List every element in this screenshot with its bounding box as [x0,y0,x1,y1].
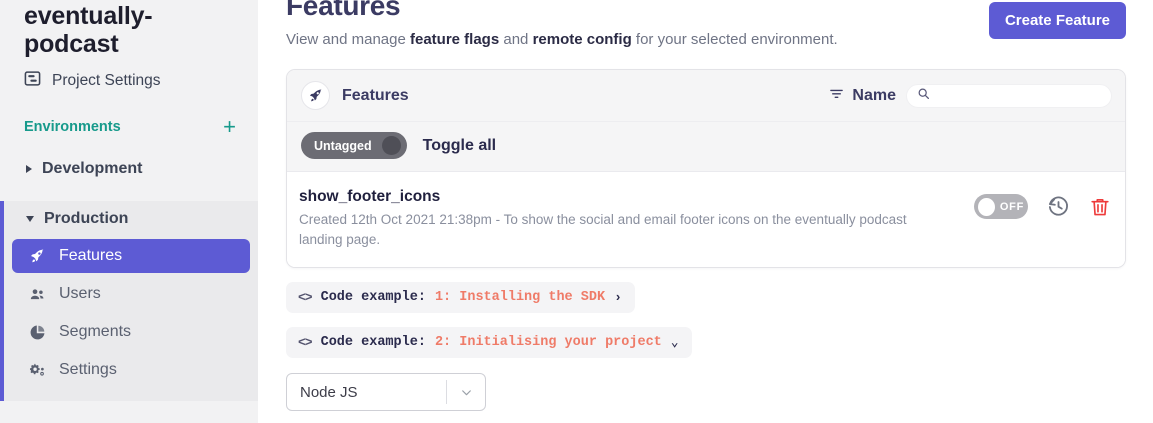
environment-name: Production [44,210,128,228]
gears-icon [28,362,46,379]
app-root: eventually-podcast Project Settings Envi… [0,0,1153,423]
code-example-2[interactable]: <> Code example: 2: Initialising your pr… [286,327,692,358]
feature-delete-button[interactable] [1089,196,1111,218]
subtitle-text-3: for your selected environment. [632,31,838,48]
features-card-title: Features [342,87,409,105]
untagged-tag-toggle[interactable]: Untagged [301,132,407,159]
users-icon [28,286,46,303]
language-select-value: Node JS [300,384,358,401]
sidebar-item-segments[interactable]: Segments [12,315,250,349]
sidebar-item-label: Users [59,285,101,303]
sidebar-item-settings[interactable]: Settings [12,353,250,387]
subtitle-bold-2: remote config [533,31,632,48]
feature-history-button[interactable] [1047,195,1070,218]
search-input[interactable] [936,88,1101,103]
main-content: Features View and manage feature flags a… [258,0,1153,423]
subtitle-text-1: View and manage [286,31,410,48]
features-card-header-right: Name [829,84,1112,108]
pie-chart-icon [28,324,46,341]
code-examples: <> Code example: 1: Installing the SDK ›… [286,268,1126,358]
code-example-1[interactable]: <> Code example: 1: Installing the SDK › [286,282,635,313]
language-select-arrow-group [446,380,485,404]
chevron-down-icon: ⌄ [671,335,679,350]
sidebar-item-users[interactable]: Users [12,277,250,311]
toggle-knob [978,198,995,216]
chevron-right-icon: › [614,290,622,305]
features-card-header: Features Name [287,70,1125,122]
toggle-state-label: OFF [1000,201,1024,213]
sidebar-item-project-settings[interactable]: Project Settings [24,70,258,92]
code-brackets-icon: <> [298,290,312,305]
language-select[interactable]: Node JS [286,373,486,411]
sidebar-item-label: Features [59,247,122,265]
sort-icon [829,86,844,106]
feature-info: show_footer_icons Created 12th Oct 2021 … [299,188,939,249]
environment-development[interactable]: Development [0,151,258,187]
sidebar-top: eventually-podcast Project Settings [0,0,258,92]
chevron-down-icon [26,216,34,222]
features-card-header-left: Features [301,81,409,110]
code-example-title: 1: Installing the SDK [435,290,605,305]
rocket-icon [301,81,330,110]
subtitle-bold-1: feature flags [410,31,499,48]
code-example-2-wrap: <> Code example: 2: Initialising your pr… [286,313,1126,358]
sidebar-item-features[interactable]: Features [12,239,250,273]
environment-development-row[interactable]: Development [0,151,258,187]
feature-actions: OFF [974,188,1111,219]
chevron-down-icon [447,386,485,399]
sliders-icon [24,70,41,92]
tag-filter-row: Untagged Toggle all [287,122,1125,172]
page-title: Features [286,0,838,22]
code-example-prefix: Code example: [321,335,426,350]
sort-label: Name [852,87,896,105]
toggle-all-label[interactable]: Toggle all [423,137,496,155]
search-box[interactable] [906,84,1112,108]
feature-description: Created 12th Oct 2021 21:38pm - To show … [299,210,939,249]
page-header: Features View and manage feature flags a… [286,0,1126,48]
chevron-right-icon [26,165,32,173]
features-card: Features Name [286,69,1126,268]
untagged-label: Untagged [314,139,372,153]
search-icon [917,87,930,105]
environments-header: Environments + [0,119,258,135]
add-environment-button[interactable]: + [223,120,236,134]
feature-row[interactable]: show_footer_icons Created 12th Oct 2021 … [287,172,1125,267]
environment-production: Production Features [0,201,258,401]
environments-label: Environments [24,119,121,135]
project-settings-label: Project Settings [52,72,161,90]
sort-by-name-control[interactable]: Name [829,86,896,106]
environment-production-row[interactable]: Production [4,201,258,237]
sidebar: eventually-podcast Project Settings Envi… [0,0,258,423]
sidebar-item-label: Settings [59,361,117,379]
feature-enabled-toggle[interactable]: OFF [974,194,1028,219]
tag-toggle-knob [382,136,401,155]
sidebar-item-label: Segments [59,323,131,341]
create-feature-button[interactable]: Create Feature [989,2,1126,39]
environment-nav: Features Users [4,237,258,387]
code-example-title: 2: Initialising your project [435,335,662,350]
subtitle-text-2: and [499,31,532,48]
project-title: eventually-podcast [24,0,224,58]
environment-name: Development [42,160,142,178]
code-example-prefix: Code example: [321,290,426,305]
page-header-text: Features View and manage feature flags a… [286,0,838,48]
code-brackets-icon: <> [298,335,312,350]
rocket-icon [28,248,46,264]
code-example-1-wrap: <> Code example: 1: Installing the SDK › [286,268,1126,313]
feature-name[interactable]: show_footer_icons [299,188,939,206]
page-subtitle: View and manage feature flags and remote… [286,31,838,48]
